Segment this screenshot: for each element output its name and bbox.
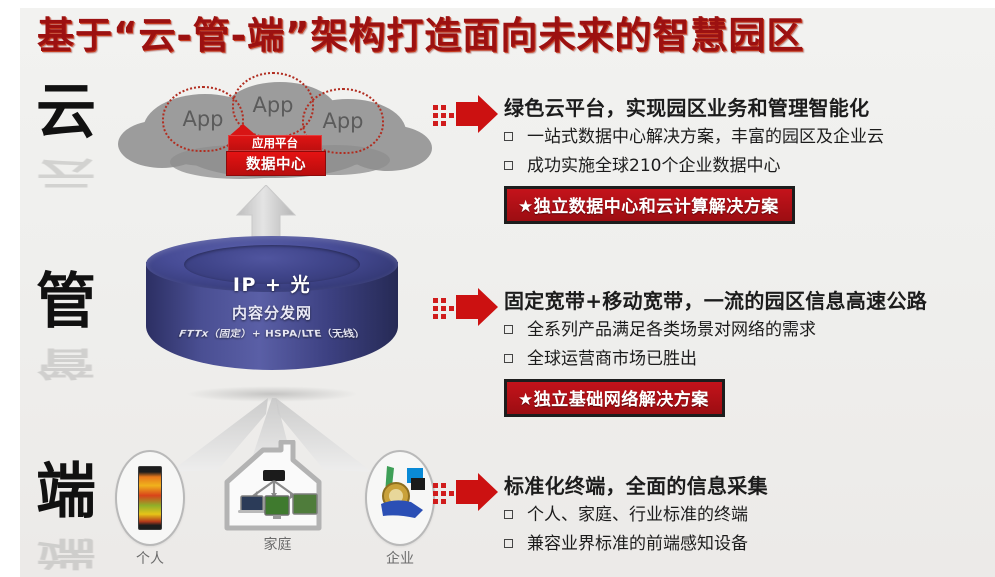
bullet-text: 一站式数据中心解决方案，丰富的园区及企业云	[527, 124, 884, 150]
pipe-secondary-label: 内容分发网	[146, 302, 398, 323]
bullet-square-icon	[504, 510, 513, 519]
layer-label-device-text: 端	[36, 457, 96, 527]
house-icon	[219, 440, 337, 532]
bullet-square-icon	[504, 539, 513, 548]
callout-badge: ★独立基础网络解决方案	[504, 379, 725, 417]
bullet-item: 成功实施全球210个企业数据中心	[504, 153, 884, 179]
page-title: 基于“云-管-端”架构打造面向未来的智慧园区	[37, 14, 804, 58]
bullet-text: 兼容业界标准的前端感知设备	[527, 531, 748, 557]
bullet-text: 全球运营商市场已胜出	[527, 346, 697, 372]
device-personal: 个人	[105, 450, 195, 568]
datacenter-label: 数据中心	[226, 151, 326, 176]
bullet-item: 个人、家庭、行业标准的终端	[504, 502, 768, 528]
callout-badge: ★独立数据中心和云计算解决方案	[504, 186, 795, 224]
house-shape-icon	[219, 440, 337, 532]
layer-label-pipe-text: 管	[36, 267, 96, 337]
layer-label-pipe-reflection: 管	[28, 347, 104, 380]
slide-canvas: 基于“云-管-端”架构打造面向未来的智慧园区 云 云 管 管 端 端	[0, 0, 995, 577]
layer-label-pipe: 管 管	[28, 272, 104, 393]
smartphone-icon	[138, 466, 162, 530]
bullet-item: 一站式数据中心解决方案，丰富的园区及企业云	[504, 124, 884, 150]
bullet-square-icon	[504, 132, 513, 141]
layer-label-cloud-text: 云	[36, 77, 96, 147]
bullet-square-icon	[504, 354, 513, 363]
pipe-cylinder-graphic: IP + 光 内容分发网 FTTx（固定）+ HSPA/LTE（无线）	[146, 236, 398, 404]
device-label: 家庭	[215, 534, 340, 554]
pipe-tertiary-label: FTTx（固定）+ HSPA/LTE（无线）	[142, 327, 401, 340]
device-oval	[115, 450, 185, 546]
layer-label-device: 端 端	[28, 462, 104, 577]
text-block-pipe-body: 固定宽带+移动宽带，一流的园区信息高速公路 全系列产品满足各类场景对网络的需求 …	[504, 285, 927, 417]
bullet-item: 全系列产品满足各类场景对网络的需求	[504, 317, 927, 343]
text-block-cloud: 绿色云平台，实现园区业务和管理智能化 一站式数据中心解决方案，丰富的园区及企业云…	[432, 92, 884, 224]
bullet-square-icon	[504, 161, 513, 170]
text-block-device-body: 标准化终端，全面的信息采集 个人、家庭、行业标准的终端 兼容业界标准的前端感知设…	[504, 470, 768, 557]
text-block-pipe: 固定宽带+移动宽带，一流的园区信息高速公路 全系列产品满足各类场景对网络的需求 …	[432, 285, 927, 417]
text-block-cloud-body: 绿色云平台，实现园区业务和管理智能化 一站式数据中心解决方案，丰富的园区及企业云…	[504, 92, 884, 224]
layer-label-cloud: 云 云	[28, 82, 104, 203]
utility-meter-icon	[367, 452, 433, 544]
layer-label-cloud-reflection: 云	[28, 157, 104, 190]
block-heading: 固定宽带+移动宽带，一流的园区信息高速公路	[504, 285, 927, 314]
bullet-item: 兼容业界标准的前端感知设备	[504, 531, 768, 557]
red-arrow-icon	[432, 285, 502, 329]
bullet-item: 全球运营商市场已胜出	[504, 346, 927, 372]
bullet-text: 全系列产品满足各类场景对网络的需求	[527, 317, 816, 343]
block-heading: 绿色云平台，实现园区业务和管理智能化	[504, 92, 884, 121]
block-heading: 标准化终端，全面的信息采集	[504, 470, 768, 499]
pipe-primary-label: IP + 光	[146, 270, 398, 297]
layer-label-device-reflection: 端	[28, 537, 104, 570]
red-arrow-icon	[432, 470, 502, 514]
bullet-text: 成功实施全球210个企业数据中心	[527, 153, 780, 179]
device-label: 个人	[105, 548, 195, 568]
device-oval	[365, 450, 435, 546]
datacenter-box: 应用平台 数据中心	[228, 124, 322, 174]
text-block-device: 标准化终端，全面的信息采集 个人、家庭、行业标准的终端 兼容业界标准的前端感知设…	[432, 470, 768, 557]
red-arrow-icon	[432, 92, 502, 136]
bullet-square-icon	[504, 325, 513, 334]
bullet-text: 个人、家庭、行业标准的终端	[527, 502, 748, 528]
platform-label: 应用平台	[228, 135, 322, 151]
device-home: 家庭	[215, 440, 340, 554]
